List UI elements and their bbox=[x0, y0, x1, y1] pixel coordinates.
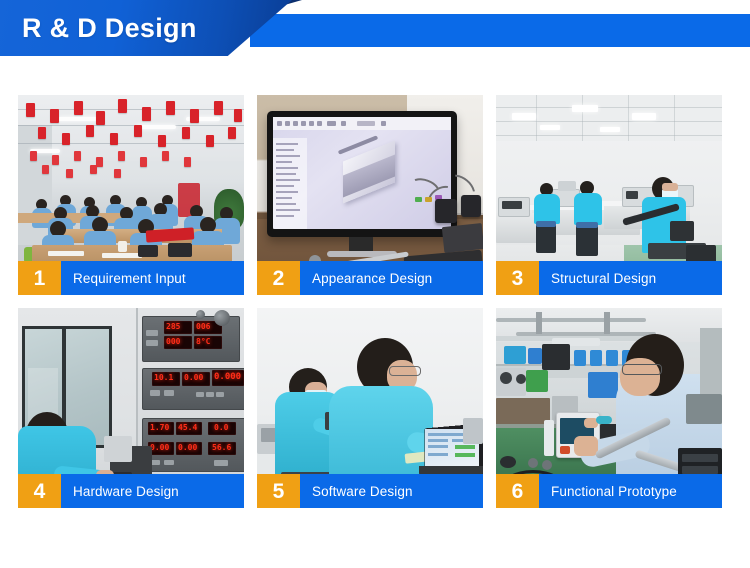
step-card-1[interactable]: 1 Requirement Input bbox=[18, 95, 244, 295]
step-card-6[interactable]: 6 Functional Prototype bbox=[496, 308, 722, 508]
step-caption-6: 6 Functional Prototype bbox=[496, 474, 722, 508]
step-label-6: Functional Prototype bbox=[539, 474, 722, 508]
step-caption-2: 2 Appearance Design bbox=[257, 261, 483, 295]
step-number-badge-6: 6 bbox=[496, 474, 539, 508]
step-card-3[interactable]: 3 Structural Design bbox=[496, 95, 722, 295]
step-card-2[interactable]: 2 Appearance Design bbox=[257, 95, 483, 295]
banner-right-bar bbox=[250, 14, 750, 47]
step-number-badge-3: 3 bbox=[496, 261, 539, 295]
step-label-3: Structural Design bbox=[539, 261, 722, 295]
step-label-5: Software Design bbox=[300, 474, 483, 508]
step-number-badge-5: 5 bbox=[257, 474, 300, 508]
step-number-badge-4: 4 bbox=[18, 474, 61, 508]
step-card-5[interactable]: 5 Software Design bbox=[257, 308, 483, 508]
step-caption-1: 1 Requirement Input bbox=[18, 261, 244, 295]
step-label-2: Appearance Design bbox=[300, 261, 483, 295]
step-number-badge-1: 1 bbox=[18, 261, 61, 295]
step-caption-3: 3 Structural Design bbox=[496, 261, 722, 295]
step-caption-5: 5 Software Design bbox=[257, 474, 483, 508]
step-number-badge-2: 2 bbox=[257, 261, 300, 295]
step-card-4[interactable]: 285 006 000 8°C 10.1 0.00 0.000 bbox=[18, 308, 244, 508]
page-header-banner: R & D Design bbox=[0, 0, 750, 60]
step-label-1: Requirement Input bbox=[61, 261, 244, 295]
page-title: R & D Design bbox=[22, 8, 197, 48]
step-label-4: Hardware Design bbox=[61, 474, 244, 508]
rd-design-step-grid: 1 Requirement Input bbox=[18, 95, 732, 508]
step-caption-4: 4 Hardware Design bbox=[18, 474, 244, 508]
